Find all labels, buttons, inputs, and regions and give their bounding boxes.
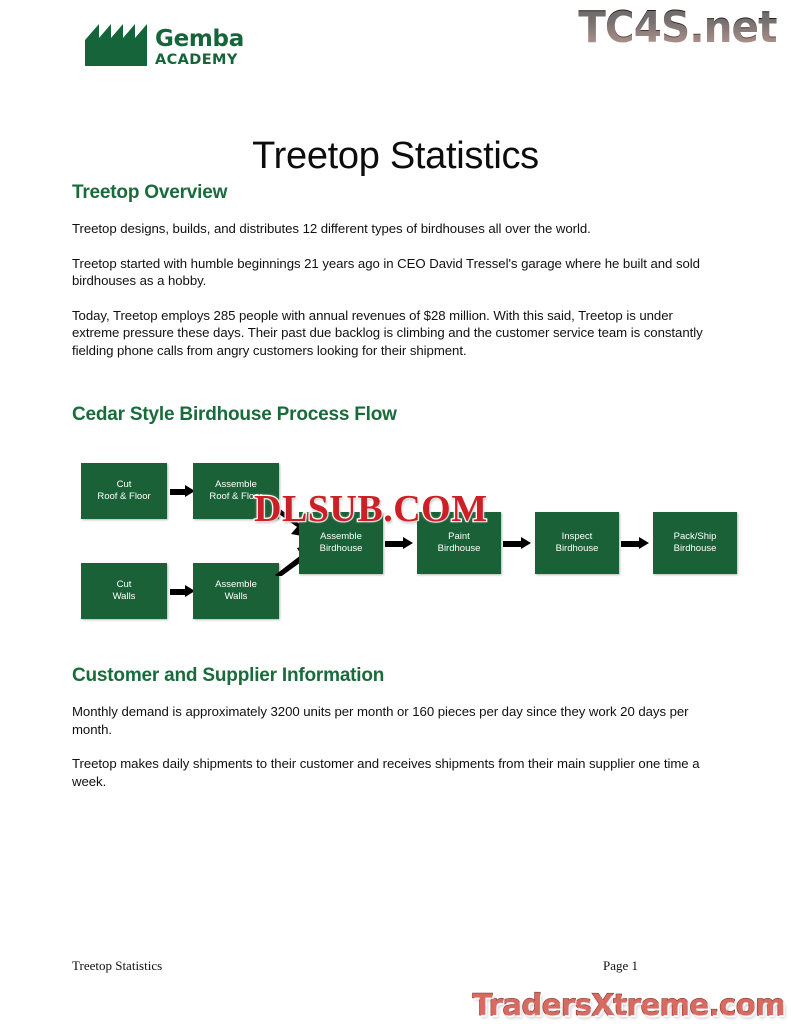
flow-box-cut-roof-floor: Cut Roof & Floor (81, 463, 167, 519)
flow-box-assemble-walls: Assemble Walls (193, 563, 279, 619)
arrow-shaft (503, 541, 522, 547)
process-flow-diagram: Cut Roof & Floor Assemble Roof & Floor C… (72, 442, 720, 637)
watermark-dlsub: DLSUB.COM (254, 487, 488, 531)
flow-box-line2: Birdhouse (556, 543, 599, 555)
watermark-tradersxtreme: TradersXtreme.com (473, 988, 785, 1022)
section-heading-process-flow: Cedar Style Birdhouse Process Flow (72, 404, 720, 426)
arrow-head (639, 537, 649, 549)
brand-name-primary: Gemba (155, 28, 244, 51)
flow-box-line1: Inspect (562, 531, 593, 543)
customer-supplier-paragraph-2: Treetop makes daily shipments to their c… (72, 755, 720, 790)
flow-box-packship-birdhouse: Pack/Ship Birdhouse (653, 512, 737, 574)
flow-arrow-paint-to-inspect (503, 537, 533, 550)
flow-arrow-cut-to-assemble-walls (170, 585, 195, 598)
arrow-shaft (170, 589, 186, 595)
flow-box-line2: Birdhouse (674, 543, 717, 555)
customer-supplier-paragraph-1: Monthly demand is approximately 3200 uni… (72, 703, 720, 738)
flow-arrow-assemble-to-paint (385, 537, 415, 550)
arrow-head (521, 537, 531, 549)
brand-name-secondary: ACADEMY (155, 53, 244, 68)
arrow-shaft (621, 541, 640, 547)
arrow-shaft (170, 489, 186, 495)
section-heading-overview: Treetop Overview (72, 182, 720, 204)
flow-arrow-cut-to-assemble-roof (170, 485, 195, 498)
flow-box-line1: Cut (117, 479, 132, 491)
spacer (72, 376, 720, 404)
flow-box-line2: Roof & Floor (97, 491, 150, 503)
footer-page-number: Page 1 (0, 958, 791, 974)
flow-box-line1: Cut (117, 579, 132, 591)
watermark-tc4s: TC4S.net (579, 2, 777, 53)
overview-paragraph-3: Today, Treetop employs 285 people with a… (72, 307, 720, 360)
brand-logo-text: Gemba ACADEMY (155, 28, 244, 68)
overview-paragraph-1: Treetop designs, builds, and distributes… (72, 220, 720, 238)
flow-box-line2: Walls (113, 591, 136, 603)
flow-box-line1: Assemble (215, 579, 257, 591)
arrow-shaft (385, 541, 404, 547)
arrow-head (403, 537, 413, 549)
flow-box-line2: Walls (225, 591, 248, 603)
overview-paragraph-2: Treetop started with humble beginnings 2… (72, 255, 720, 290)
flow-box-line2: Birdhouse (438, 543, 481, 555)
brand-logo: Gemba ACADEMY (85, 24, 244, 71)
flow-box-inspect-birdhouse: Inspect Birdhouse (535, 512, 619, 574)
section-heading-customer-supplier: Customer and Supplier Information (72, 665, 720, 687)
flow-box-line1: Assemble (215, 479, 257, 491)
flow-box-line2: Birdhouse (320, 543, 363, 555)
flow-box-line1: Paint (448, 531, 470, 543)
footer-page-number-text: Page 1 (603, 958, 638, 973)
factory-sawtooth-icon (85, 24, 147, 71)
flow-arrow-inspect-to-packship (621, 537, 651, 550)
page-title: Treetop Statistics (0, 135, 791, 178)
flow-box-cut-walls: Cut Walls (81, 563, 167, 619)
flow-box-line1: Pack/Ship (674, 531, 717, 543)
spacer (72, 637, 720, 665)
flow-box-line1: Assemble (320, 531, 362, 543)
